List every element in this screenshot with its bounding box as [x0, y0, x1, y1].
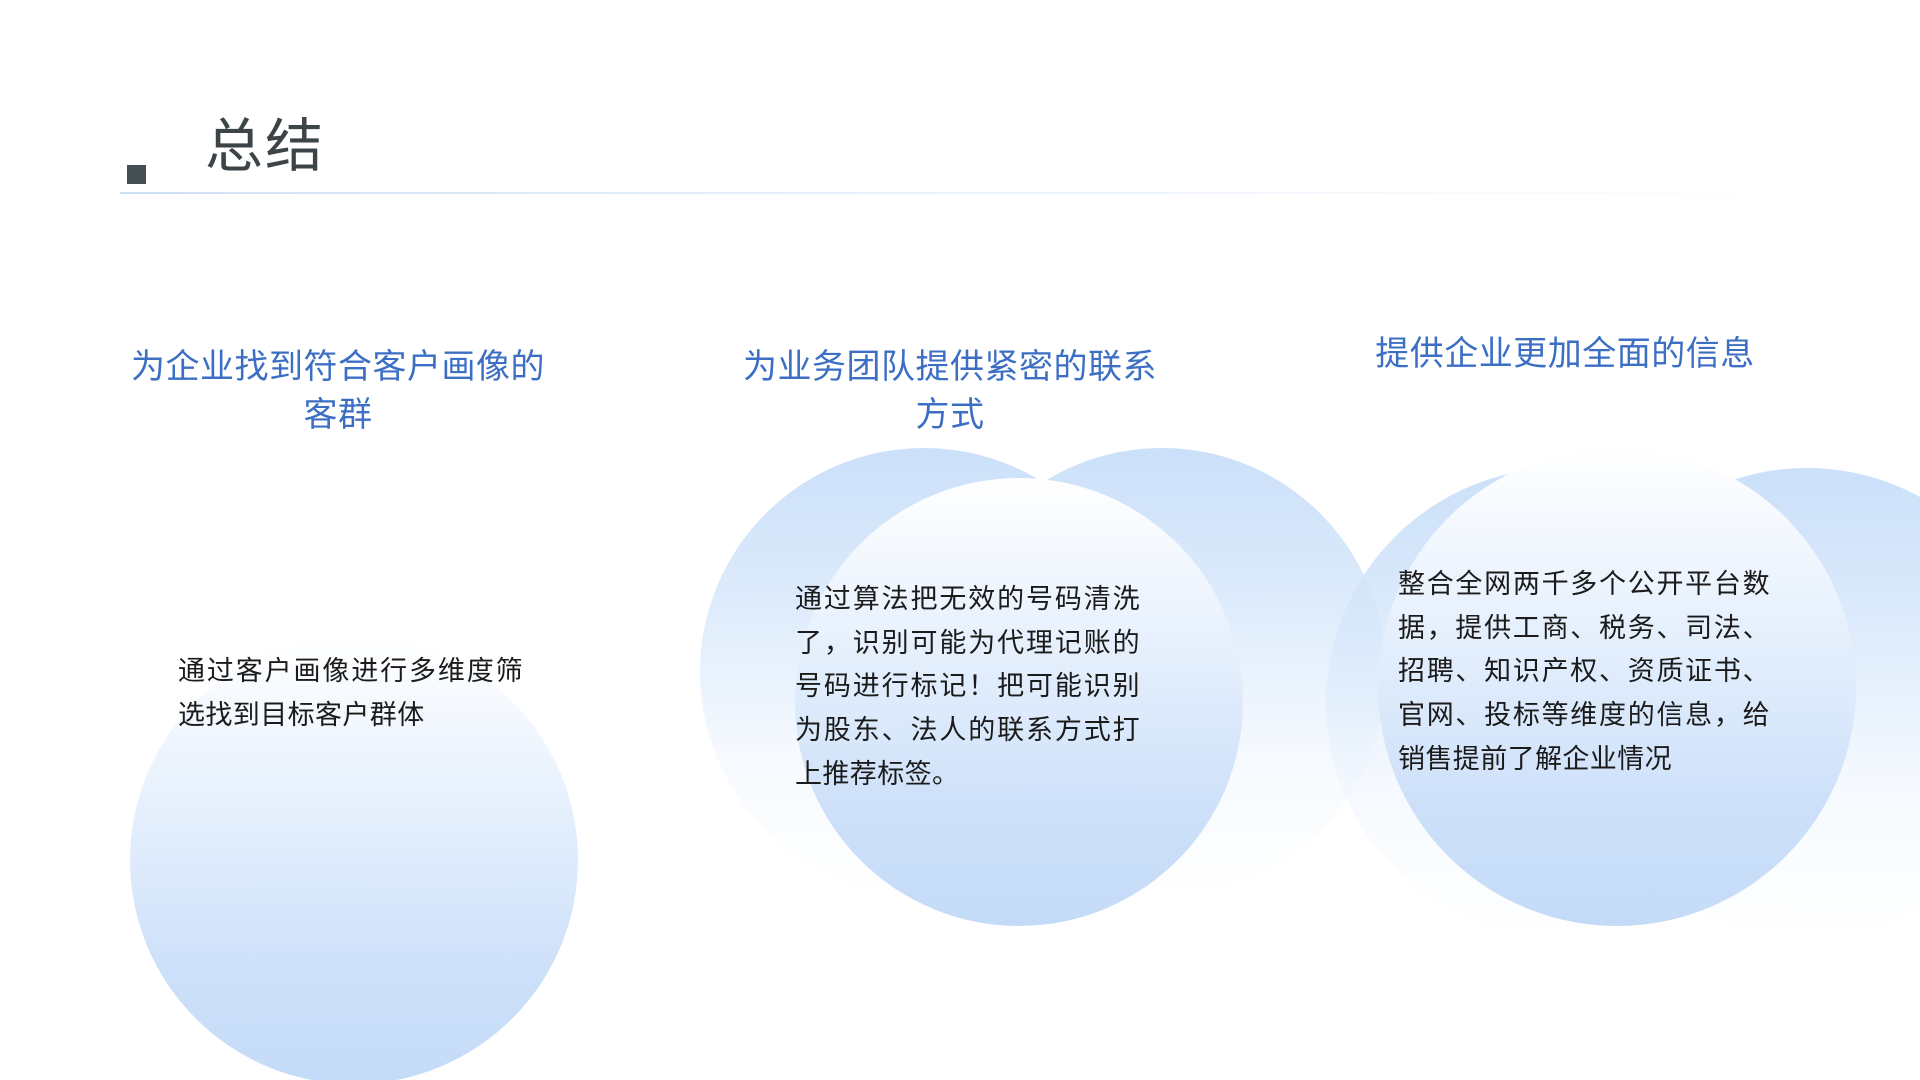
columns-container: 为企业找到符合客户画像的客群 通过客户画像进行多维度筛选找到目标客户群体 为业务… [0, 0, 1920, 1080]
column-heading-1: 为企业找到符合客户画像的客群 [118, 343, 558, 440]
column-body-1: 通过客户画像进行多维度筛选找到目标客户群体 [178, 650, 523, 737]
column-body-3: 整合全网两千多个公开平台数据，提供工商、税务、司法、招聘、知识产权、资质证书、官… [1398, 563, 1770, 782]
column-heading-3: 提供企业更加全面的信息 [1330, 330, 1800, 378]
column-heading-2: 为业务团队提供紧密的联系方式 [730, 343, 1170, 440]
column-body-2: 通过算法把无效的号码清洗了，识别可能为代理记账的号码进行标记！把可能识别为股东、… [795, 578, 1140, 797]
slide-canvas: 总结 为企业找到符合客户画像的客群 通过客户画像进行多维度筛选找到目标客户群体 … [0, 0, 1920, 1080]
